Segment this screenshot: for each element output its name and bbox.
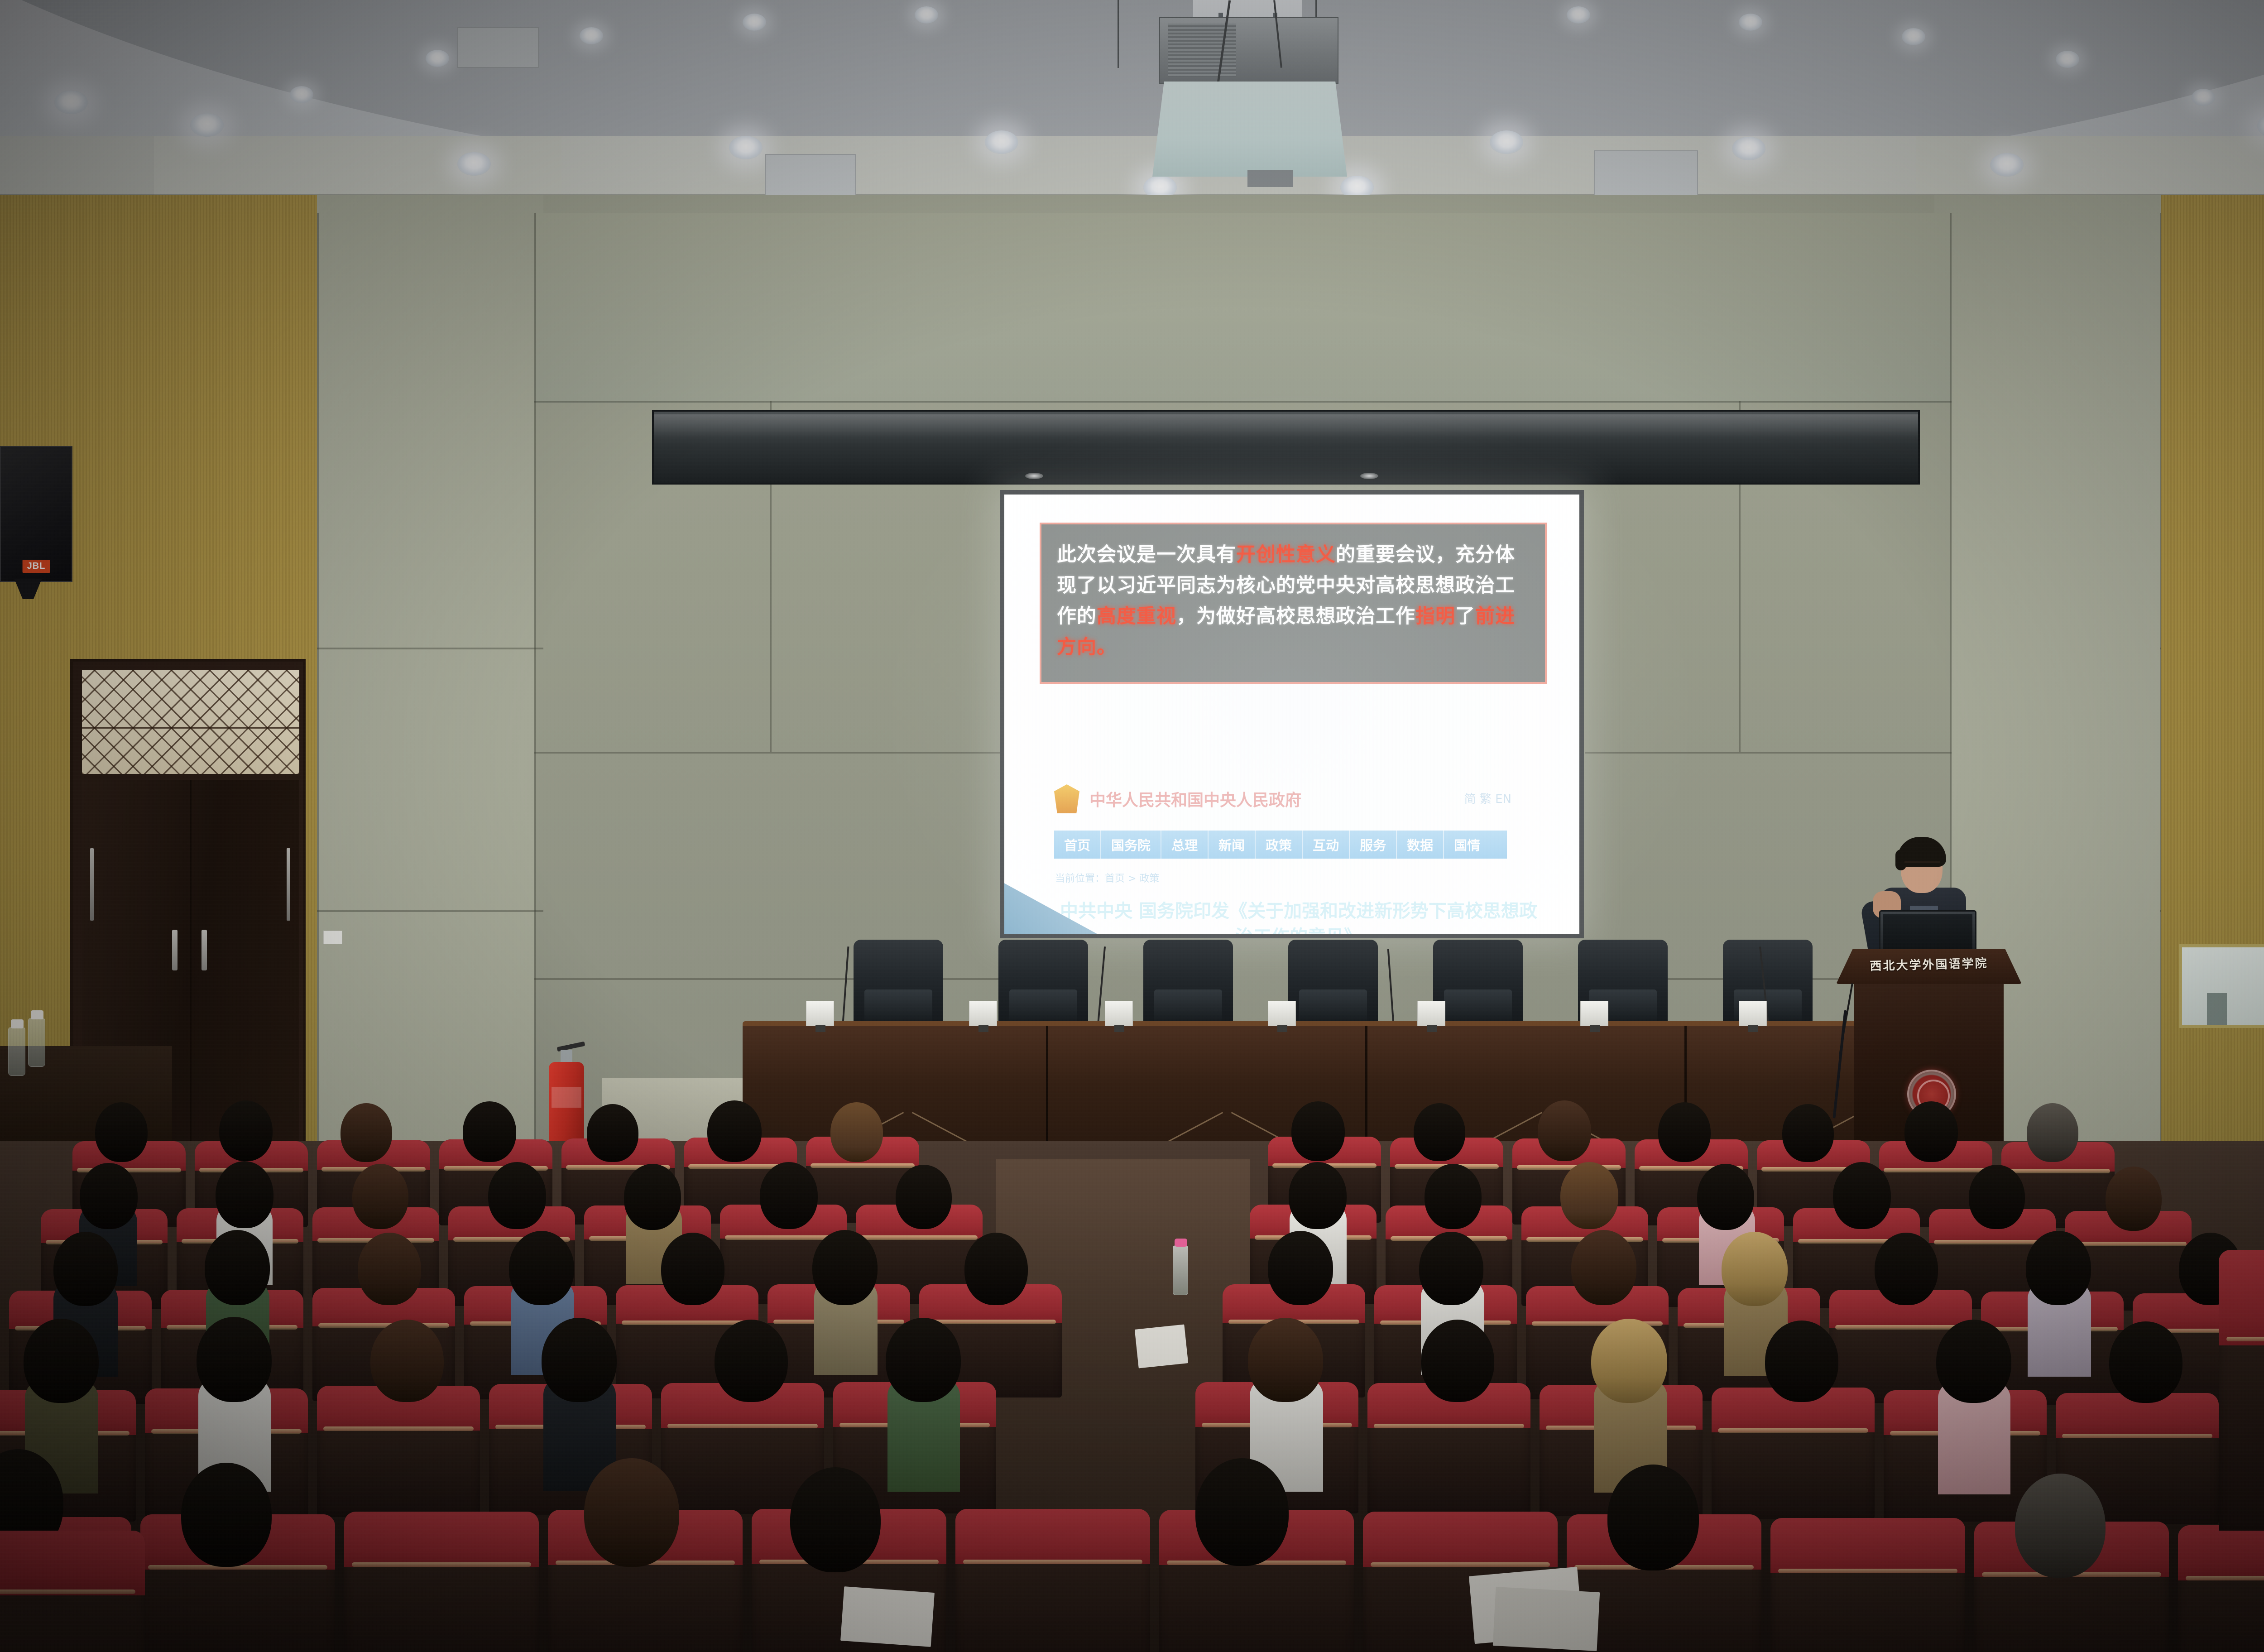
downlight-icon xyxy=(457,152,491,176)
audience-head xyxy=(509,1231,574,1305)
audience-head xyxy=(352,1164,408,1229)
audience-head xyxy=(358,1233,421,1305)
audience-head xyxy=(1936,1320,2011,1403)
name-card xyxy=(1580,1001,1608,1026)
audience-head xyxy=(886,1318,961,1402)
lectern-sign-text: 西北大学外国语学院 xyxy=(1861,954,1997,974)
downlight-icon xyxy=(1490,130,1523,154)
jbl-speaker-left: JBL xyxy=(0,446,72,582)
downlight-icon xyxy=(985,130,1018,154)
auditorium-seat[interactable] xyxy=(317,1386,480,1517)
audience-head xyxy=(1414,1103,1465,1161)
audience-head xyxy=(1904,1101,1958,1162)
wall-seam xyxy=(317,213,319,1146)
nav-item-home[interactable]: 首页 xyxy=(1054,831,1101,859)
name-card xyxy=(969,1001,997,1026)
projection-screen-valance xyxy=(652,410,1920,485)
downlight-icon xyxy=(1732,137,1765,160)
handout-paper xyxy=(1135,1324,1188,1368)
audience-head xyxy=(2027,1103,2078,1162)
nav-item-policy[interactable]: 政策 xyxy=(1256,831,1303,859)
breadcrumb: 当前位置：首页 > 政策 xyxy=(1055,870,1159,885)
auditorium-seat[interactable] xyxy=(1712,1388,1875,1519)
gov-site-header: 中华人民共和国中央人民政府 xyxy=(1054,784,1301,813)
national-emblem-icon xyxy=(1054,784,1079,813)
audience-head xyxy=(707,1100,762,1162)
audience-head xyxy=(24,1319,99,1403)
downlight-icon xyxy=(426,50,449,67)
wood-wall-right xyxy=(2161,195,2264,1236)
auditorium-seat[interactable] xyxy=(1770,1518,1965,1652)
name-card xyxy=(1268,1001,1296,1026)
audience-head xyxy=(341,1103,392,1162)
audience-head xyxy=(1291,1101,1345,1161)
projector-suspension-wire xyxy=(1118,0,1119,68)
gov-site-navbar[interactable]: 首页 国务院 总理 新闻 政策 互动 服务 数据 国情 xyxy=(1054,831,1507,859)
audience-head xyxy=(1607,1465,1699,1570)
audience-head xyxy=(812,1230,878,1305)
downlight-icon xyxy=(1739,14,1762,31)
audience-head xyxy=(790,1467,881,1572)
audience-head xyxy=(830,1102,883,1162)
audience-head xyxy=(95,1102,148,1162)
nav-item-interact[interactable]: 互动 xyxy=(1303,831,1350,859)
audience-head xyxy=(205,1230,270,1305)
downlight-icon xyxy=(190,113,224,137)
audience-head xyxy=(1421,1320,1494,1402)
auditorium-photo: JBL JBL xyxy=(0,0,2264,1652)
audience-head xyxy=(1722,1232,1788,1306)
gov-site-lang-links[interactable]: 简 繁 EN xyxy=(1464,790,1511,807)
downlight-icon xyxy=(54,91,88,114)
nav-item-data[interactable]: 数据 xyxy=(1397,831,1444,859)
audience-head xyxy=(584,1458,679,1567)
audience-head xyxy=(1591,1319,1667,1403)
audience-head xyxy=(760,1162,818,1229)
audience-head xyxy=(2026,1231,2091,1305)
gov-site-title: 中华人民共和国中央人民政府 xyxy=(1089,787,1301,811)
stage-chair[interactable] xyxy=(1143,940,1233,1026)
audience-head xyxy=(219,1100,273,1161)
wall-seam xyxy=(534,213,536,1146)
door-transom-window xyxy=(82,670,299,774)
audience-head xyxy=(1425,1164,1482,1229)
downlight-icon xyxy=(915,6,938,24)
projector-light-panel xyxy=(1152,82,1347,177)
auditorium-seat[interactable] xyxy=(2219,1250,2264,1531)
audience-head xyxy=(1195,1458,1289,1566)
niche-object xyxy=(2207,993,2227,1025)
audience-head xyxy=(1782,1104,1834,1162)
audience-head xyxy=(1765,1321,1838,1402)
downlight-icon xyxy=(2056,51,2079,68)
nav-item-country[interactable]: 国情 xyxy=(1444,831,1490,859)
stage-chair[interactable] xyxy=(1288,940,1378,1026)
audience-head xyxy=(216,1161,273,1228)
door-edge-plate xyxy=(90,848,94,921)
audience-head xyxy=(661,1233,724,1305)
audience-head xyxy=(197,1317,272,1402)
audience-head xyxy=(1969,1165,2025,1229)
auditorium-seat[interactable] xyxy=(1367,1383,1530,1514)
glasses-icon xyxy=(1904,861,1940,869)
ceiling-vent xyxy=(1594,150,1698,197)
auditorium-seat[interactable] xyxy=(0,1531,145,1652)
slide-callout-text: 此次会议是一次具有开创性意义的重要会议，充分体现了以习近平同志为核心的党中央对高… xyxy=(1057,540,1530,663)
audience-head xyxy=(1571,1230,1636,1305)
audience-head xyxy=(1833,1162,1891,1229)
handout-paper xyxy=(1493,1587,1600,1651)
nav-item-council[interactable]: 国务院 xyxy=(1101,831,1161,859)
audience-head xyxy=(80,1163,138,1229)
transom-mullion xyxy=(82,727,299,729)
audience-head xyxy=(370,1320,444,1402)
wall-seam xyxy=(317,648,543,649)
stage-chair[interactable] xyxy=(1433,940,1523,1026)
audience-head xyxy=(181,1463,272,1567)
audience-head xyxy=(488,1162,546,1229)
name-card xyxy=(806,1001,834,1026)
stage-chair[interactable] xyxy=(854,940,943,1026)
name-card xyxy=(1417,1001,1445,1026)
handout-paper xyxy=(840,1586,935,1647)
audience-head xyxy=(896,1165,952,1229)
door-edge-plate xyxy=(287,848,290,921)
audience-head xyxy=(1419,1232,1483,1305)
downlight-icon xyxy=(1567,6,1590,24)
water-bottle xyxy=(28,1018,45,1067)
audience-head xyxy=(1538,1100,1591,1161)
downlight-icon xyxy=(1902,28,1925,45)
audience-head xyxy=(715,1320,788,1402)
audience-head xyxy=(964,1233,1028,1305)
water-bottle xyxy=(8,1027,25,1076)
audience-head xyxy=(53,1232,118,1306)
downlight-icon xyxy=(2192,89,2215,106)
audience-head xyxy=(1248,1318,1323,1402)
projector-lens xyxy=(1247,170,1293,187)
audience-head xyxy=(2109,1321,2182,1403)
slide-callout-box: 此次会议是一次具有开创性意义的重要会议，充分体现了以习近平同志为核心的党中央对高… xyxy=(1040,523,1547,684)
name-card xyxy=(1105,1001,1133,1026)
audience-head xyxy=(1289,1162,1347,1229)
door-handle-icon[interactable] xyxy=(201,930,207,970)
audience-head xyxy=(1875,1233,1938,1305)
ceiling-vent xyxy=(765,154,856,197)
auditorium-seat[interactable] xyxy=(2178,1525,2264,1652)
downlight-icon xyxy=(1990,153,2024,177)
extinguisher-label xyxy=(552,1087,581,1108)
pink-capped-water-bottle xyxy=(1173,1245,1188,1295)
audience-head xyxy=(2015,1474,2106,1578)
article-headline: 中共中央 国务院印发《关于加强和改进新形势下高校思想政治工作的意见》 xyxy=(1059,898,1539,938)
audience-head xyxy=(542,1318,617,1402)
nav-item-news[interactable]: 新闻 xyxy=(1209,831,1256,859)
downlight-icon xyxy=(580,27,603,44)
audience-head xyxy=(1658,1102,1711,1162)
audience-head xyxy=(587,1104,638,1162)
name-card xyxy=(1739,1001,1767,1026)
wall-wing-left xyxy=(317,195,543,1191)
stage-chair[interactable] xyxy=(998,940,1088,1026)
wall-seam xyxy=(534,752,1001,754)
nav-item-premier[interactable]: 总理 xyxy=(1161,831,1209,859)
door-handle-icon[interactable] xyxy=(172,930,177,970)
downlight-icon xyxy=(290,86,313,103)
stage-wall-upper xyxy=(534,213,1952,403)
downlight-icon xyxy=(743,14,766,31)
projection-screen: 此次会议是一次具有开创性意义的重要会议，充分体现了以习近平同志为核心的党中央对高… xyxy=(1000,490,1584,938)
lattice-grille-icon xyxy=(82,670,299,774)
wall-seam xyxy=(1585,752,1952,754)
downlight-icon xyxy=(729,136,763,159)
audience-head xyxy=(1697,1164,1754,1230)
ceiling-vent xyxy=(457,27,539,68)
auditorium-seat[interactable] xyxy=(344,1512,539,1652)
light-switch[interactable] xyxy=(323,931,342,944)
audience-head xyxy=(463,1101,516,1162)
audience-head xyxy=(1268,1231,1333,1305)
auditorium-seat[interactable] xyxy=(955,1509,1150,1652)
slide-content: 此次会议是一次具有开创性意义的重要会议，充分体现了以习近平同志为核心的党中央对高… xyxy=(1004,495,1579,934)
wall-seam xyxy=(317,910,543,912)
audience-head xyxy=(1560,1162,1618,1229)
nav-item-service[interactable]: 服务 xyxy=(1350,831,1397,859)
audience-head xyxy=(2106,1167,2162,1231)
wall-niche-window xyxy=(2179,944,2264,1028)
audience-head xyxy=(624,1164,681,1230)
speaker-brand-label: JBL xyxy=(23,560,50,573)
